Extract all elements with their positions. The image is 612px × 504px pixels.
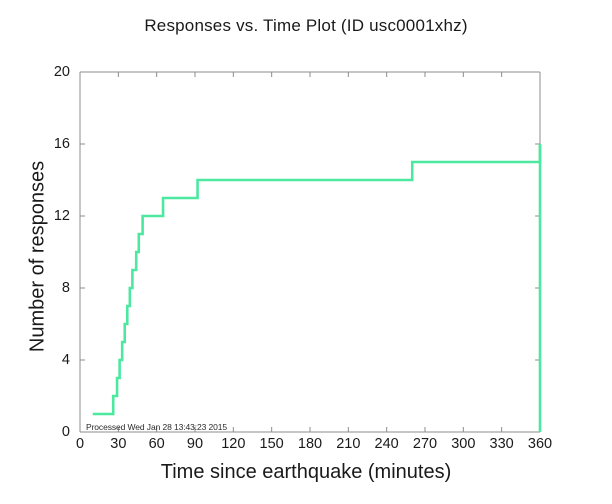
x-tick-label: 150 <box>260 436 284 452</box>
x-tick-label: 270 <box>413 436 437 452</box>
y-tick-label: 0 <box>36 424 70 440</box>
x-tick-label: 90 <box>187 436 203 452</box>
x-tick-label: 300 <box>451 436 475 452</box>
x-tick-label: 0 <box>76 436 84 452</box>
y-axis-label: Number of responses <box>27 107 50 407</box>
x-tick-label: 330 <box>490 436 514 452</box>
x-tick-label: 180 <box>298 436 322 452</box>
chart-figure: Responses vs. Time Plot (ID usc0001xhz) … <box>0 0 612 504</box>
x-axis-label: Time since earthquake (minutes) <box>0 461 612 484</box>
x-tick-label: 120 <box>221 436 245 452</box>
x-tick-label: 360 <box>528 436 552 452</box>
x-tick-label: 240 <box>375 436 399 452</box>
x-tick-label: 30 <box>110 436 126 452</box>
y-tick-label: 20 <box>36 64 70 80</box>
x-tick-label: 210 <box>336 436 360 452</box>
processing-timestamp: Processed Wed Jan 28 13:43:23 2015 <box>86 422 227 432</box>
x-tick-label: 60 <box>149 436 165 452</box>
